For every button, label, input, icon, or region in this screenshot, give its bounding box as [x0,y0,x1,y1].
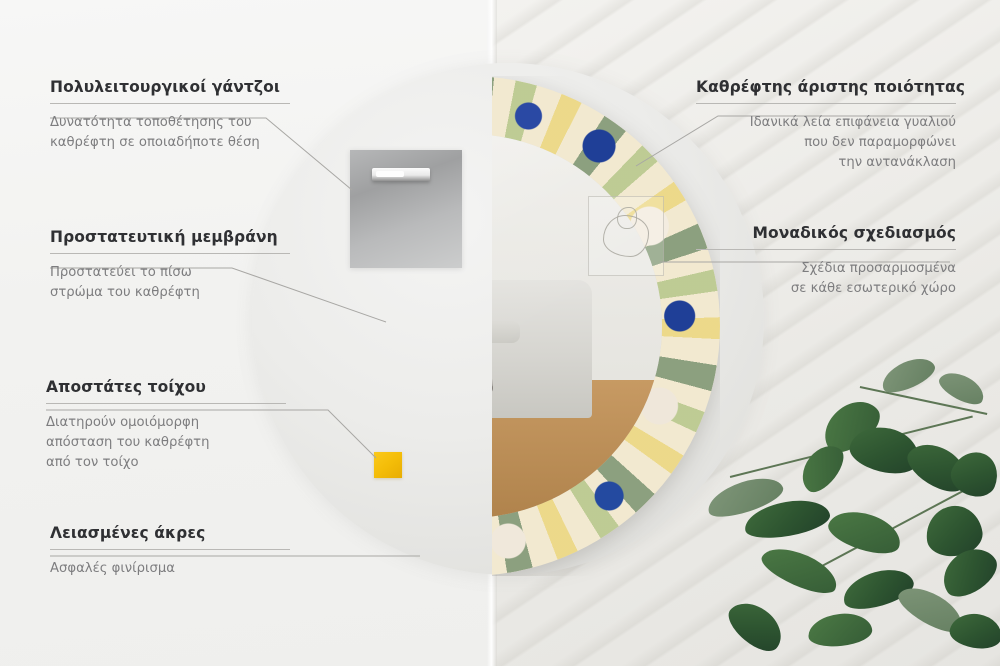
callout-body: Δυνατότητα τοποθέτησης του καθρέφτη σε ο… [50,113,290,153]
callout-wall-spacers: Αποστάτες τοίχου Διατηρούν ομοιόμορφη απ… [46,378,286,473]
callout-title: Λειασμένες άκρες [50,524,290,542]
callout-unique-design: Μοναδικός σχεδιασμός Σχέδια προσαρμοσμέν… [696,224,956,299]
callout-body: Διατηρούν ομοιόμορφη απόσταση του καθρέφ… [46,413,286,473]
callout-top-quality-mirror: Καθρέφτης άριστης ποιότητας Ιδανικά λεία… [696,78,956,173]
callout-title: Μοναδικός σχεδιασμός [696,224,956,242]
callout-title: Καθρέφτης άριστης ποιότητας [696,78,956,96]
product-infographic: Πολυλειτουργικοί γάντζοι Δυνατότητα τοπο… [0,0,1000,666]
callout-body: Σχέδια προσαρμοσμένα σε κάθε εσωτερικό χ… [696,259,956,299]
callout-title: Πολυλειτουργικοί γάντζοι [50,78,290,96]
callout-protective-membrane: Προστατευτική μεμβράνη Προστατεύει το πί… [50,228,290,303]
callout-smoothed-edges: Λειασμένες άκρες Ασφαλές φινίρισμα [50,524,290,579]
callout-rule [46,403,286,404]
callout-body: Ιδανικά λεία επιφάνεια γυαλιού που δεν π… [696,113,956,173]
callout-rule [50,549,290,550]
callout-rule [50,253,290,254]
callout-title: Προστατευτική μεμβράνη [50,228,290,246]
callout-body: Ασφαλές φινίρισμα [50,559,290,579]
callout-rule [696,249,956,250]
callout-title: Αποστάτες τοίχου [46,378,286,396]
callout-rule [50,103,290,104]
callout-multifunctional-hooks: Πολυλειτουργικοί γάντζοι Δυνατότητα τοπο… [50,78,290,153]
callout-rule [696,103,956,104]
callout-body: Προστατεύει το πίσω στρώμα του καθρέφτη [50,263,290,303]
